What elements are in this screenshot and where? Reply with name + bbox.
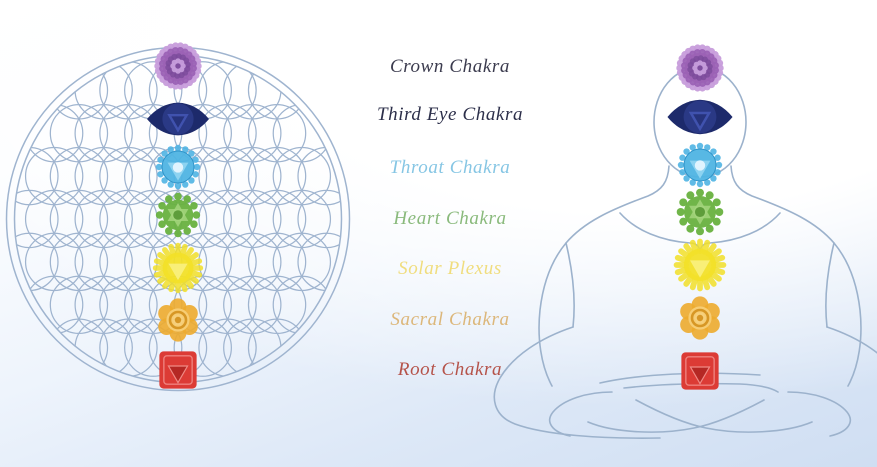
chakra-symbol-throat[interactable] bbox=[156, 145, 200, 189]
label-crown-chakra: Crown Chakra bbox=[330, 56, 570, 78]
chakra-symbol-root[interactable] bbox=[159, 351, 196, 388]
chakra-symbol-sacral[interactable] bbox=[680, 296, 720, 339]
label-solar-plexus: Solar Plexus bbox=[330, 258, 570, 280]
label-heart-chakra: Heart Chakra bbox=[330, 208, 570, 230]
label-third-eye-chakra: Third Eye Chakra bbox=[330, 104, 570, 126]
chakra-symbol-crown[interactable] bbox=[154, 42, 201, 89]
chakra-symbol-throat[interactable] bbox=[678, 143, 722, 187]
chakra-symbol-solar-plexus[interactable] bbox=[677, 242, 724, 289]
chakra-symbol-third-eye[interactable] bbox=[667, 100, 732, 134]
chakra-symbol-root[interactable] bbox=[681, 352, 718, 389]
chakra-symbol-third-eye[interactable] bbox=[147, 103, 209, 136]
chakra-label-list: Crown ChakraThird Eye ChakraThroat Chakr… bbox=[330, 0, 570, 467]
chakra-symbol-solar-plexus[interactable] bbox=[156, 246, 201, 291]
chakra-symbol-sacral[interactable] bbox=[158, 298, 198, 341]
label-root-chakra: Root Chakra bbox=[330, 359, 570, 381]
chakra-symbol-crown[interactable] bbox=[676, 44, 723, 91]
chakra-diagram: Crown ChakraThird Eye ChakraThroat Chakr… bbox=[0, 0, 877, 467]
label-sacral-chakra: Sacral Chakra bbox=[330, 309, 570, 331]
chakra-symbol-heart[interactable] bbox=[677, 189, 724, 236]
label-throat-chakra: Throat Chakra bbox=[330, 157, 570, 179]
chakra-symbol-heart[interactable] bbox=[156, 193, 200, 237]
